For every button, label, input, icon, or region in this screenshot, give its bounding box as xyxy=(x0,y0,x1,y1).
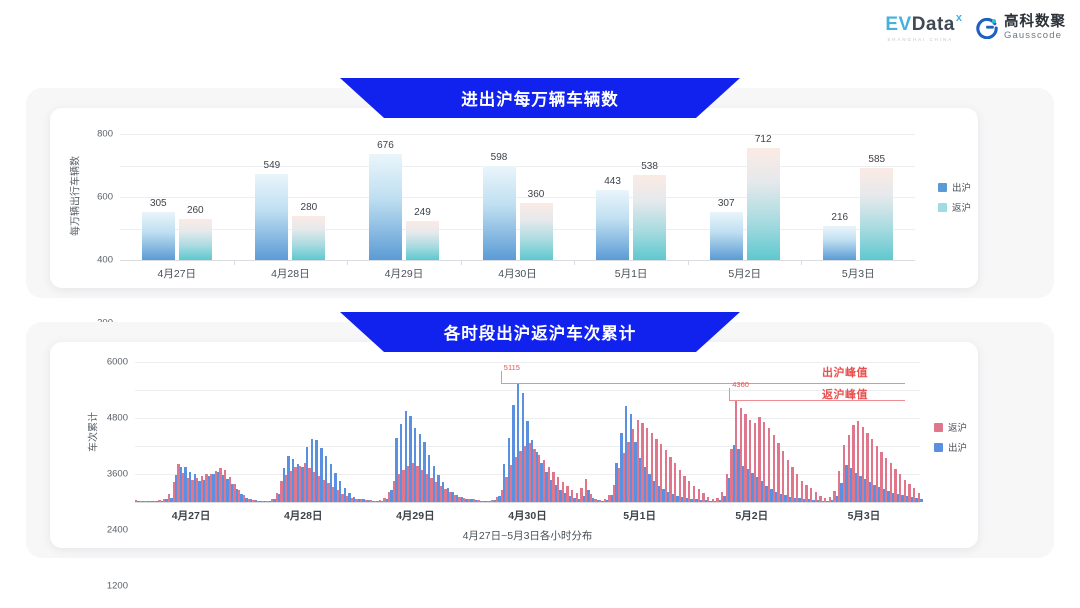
chart2-y-axis-label: 车次累计 xyxy=(85,412,100,452)
evdata-data-text: Data xyxy=(912,14,955,35)
chart2-peak-value: 5115 xyxy=(504,363,520,372)
chart2-x-axis-labels: 4月27日4月28日4月29日4月30日5月1日5月2日5月3日 xyxy=(135,508,920,523)
chart2-bar-return xyxy=(787,460,789,502)
chart1-bar-出沪: 307 xyxy=(710,212,743,260)
g-circle-icon xyxy=(976,17,998,39)
chart1-bar-返沪: 712 xyxy=(747,148,780,260)
chart2-x-tick-label: 5月3日 xyxy=(808,508,920,523)
chart1-bar-返沪: 249 xyxy=(406,221,439,260)
chart1-x-tick-mark xyxy=(574,260,575,265)
report-page: EVData x SHANGHAI CHINA 高科数聚 Gausscode 进… xyxy=(0,0,1080,608)
chart1-bar-value: 280 xyxy=(301,202,318,213)
chart2-x-tick-label: 4月27日 xyxy=(135,508,247,523)
chart2-x-tick-label: 4月29日 xyxy=(359,508,471,523)
chart2-legend-item[interactable]: 返沪 xyxy=(934,420,967,434)
chart1-y-tick: 600 xyxy=(97,192,113,203)
chart1-x-tick-mark xyxy=(347,260,348,265)
chart2-y-tick: 3600 xyxy=(107,469,128,480)
chart1-bar-group: 549280 xyxy=(234,134,348,260)
chart1-x-tick-label: 5月1日 xyxy=(574,266,688,281)
chart2-x-tick-label: 5月2日 xyxy=(696,508,808,523)
chart1-bar-返沪: 538 xyxy=(633,175,666,260)
chart1-bar-出沪: 676 xyxy=(369,154,402,260)
chart1-bar-group: 443538 xyxy=(574,134,688,260)
chart1-bar-出沪: 549 xyxy=(255,174,288,260)
chart1-bar-value: 538 xyxy=(641,161,658,172)
chart2-y-tick: 2400 xyxy=(107,525,128,536)
chart1-bar-value: 305 xyxy=(150,198,167,209)
chart1-bar-value: 443 xyxy=(604,176,621,187)
chart2-peak-tick-出沪峰值 xyxy=(501,371,502,383)
chart2-peak-label: 返沪峰值 xyxy=(822,386,868,402)
chart1-bar-value: 307 xyxy=(718,198,735,209)
chart1-x-tick-label: 5月2日 xyxy=(688,266,802,281)
chart2-legend-swatch xyxy=(934,443,943,452)
evdata-logo: EVData x SHANGHAI CHINA xyxy=(885,14,962,42)
chart1-bar-group: 307712 xyxy=(688,134,802,260)
chart1-legend-label: 出沪 xyxy=(952,180,971,194)
chart1-x-tick-label: 4月29日 xyxy=(347,266,461,281)
chart2-bar-outbound xyxy=(920,499,922,502)
chart1-bar-group: 676249 xyxy=(347,134,461,260)
evdata-ev-text: EV xyxy=(885,14,911,35)
chart1-bar-返沪: 360 xyxy=(520,203,553,260)
chart2-legend-label: 出沪 xyxy=(948,440,967,454)
chart2-legend-item[interactable]: 出沪 xyxy=(934,440,967,454)
section-2-banner-title: 各时段出沪返沪车次累计 xyxy=(340,312,740,352)
chart1-bar-value: 249 xyxy=(414,207,431,218)
chart1-bar-出沪: 216 xyxy=(823,226,856,260)
chart2-peak-line-返沪峰值 xyxy=(729,400,905,401)
chart1-legend-swatch xyxy=(938,203,947,212)
evdata-wordmark: EVData xyxy=(885,14,955,36)
chart2-peak-label: 出沪峰值 xyxy=(822,364,868,380)
chart2-y-tick: 6000 xyxy=(107,357,128,368)
chart2-legend: 返沪出沪 xyxy=(934,420,967,454)
chart1-bar-group: 598360 xyxy=(461,134,575,260)
chart1-bar-group: 305260 xyxy=(120,134,234,260)
chart1-bar-value: 598 xyxy=(491,152,508,163)
chart1-x-tick-mark xyxy=(461,260,462,265)
chart1-x-tick-mark xyxy=(234,260,235,265)
chart1-legend-item[interactable]: 返沪 xyxy=(938,200,971,214)
chart1-bar-出沪: 443 xyxy=(596,190,629,260)
chart2-legend-swatch xyxy=(934,423,943,432)
chart1-x-tick-label: 4月28日 xyxy=(234,266,348,281)
chart1-x-tick-label: 5月3日 xyxy=(801,266,915,281)
chart1-x-axis-labels: 4月27日4月28日4月29日4月30日5月1日5月2日5月3日 xyxy=(120,266,915,281)
chart1-bar-返沪: 280 xyxy=(292,216,325,260)
chart1-x-tick-mark xyxy=(688,260,689,265)
chart1-bar-value: 216 xyxy=(831,212,848,223)
chart1-bar-group: 216585 xyxy=(801,134,915,260)
chart2-x-tick-label: 4月30日 xyxy=(471,508,583,523)
chart2-gridline: 0 xyxy=(135,502,920,503)
chart1-legend-swatch xyxy=(938,183,947,192)
chart2-y-tick: 4800 xyxy=(107,413,128,424)
chart1-bar-出沪: 598 xyxy=(483,166,516,260)
chart2-peak-value: 4360 xyxy=(732,380,749,389)
chart2-x-tick-label: 5月1日 xyxy=(584,508,696,523)
chart1-bar-value: 585 xyxy=(868,154,885,165)
chart1-gridline: 0 xyxy=(120,260,915,261)
chart2-x-tick-label: 4月28日 xyxy=(247,508,359,523)
chart1-bar-返沪: 585 xyxy=(860,168,893,260)
chart1-legend-item[interactable]: 出沪 xyxy=(938,180,971,194)
chart1-bar-返沪: 260 xyxy=(179,219,212,260)
chart1-bar-value: 712 xyxy=(755,134,772,145)
chart1-legend-label: 返沪 xyxy=(952,200,971,214)
chart1-y-tick: 400 xyxy=(97,255,113,266)
evdata-superscript: x xyxy=(956,12,962,24)
chart1-bar-groups: 3052605492806762495983604435383077122165… xyxy=(120,134,915,260)
chart2-bar-return xyxy=(782,451,784,502)
chart1-bar-value: 676 xyxy=(377,140,394,151)
section-1-banner-title: 进出沪每万辆车辆数 xyxy=(340,78,740,118)
chart2-legend-label: 返沪 xyxy=(948,420,967,434)
gausscode-cn-name: 高科数聚 xyxy=(1004,15,1066,30)
chart1-y-tick: 800 xyxy=(97,129,113,140)
brand-logo-bar: EVData x SHANGHAI CHINA 高科数聚 Gausscode xyxy=(885,14,1066,42)
chart1-bar-出沪: 305 xyxy=(142,212,175,260)
chart2-peak-line-出沪峰值 xyxy=(501,383,905,384)
chart2-y-tick: 1200 xyxy=(107,581,128,592)
evdata-tagline: SHANGHAI CHINA xyxy=(887,37,953,42)
gausscode-en-name: Gausscode xyxy=(1004,31,1066,41)
chart1-x-tick-mark xyxy=(801,260,802,265)
chart1-x-tick-label: 4月30日 xyxy=(461,266,575,281)
chart2-peak-tick-返沪峰值 xyxy=(729,388,730,400)
chart1-bar-value: 549 xyxy=(264,160,281,171)
chart1-y-axis-label: 每万辆出行车辆数 xyxy=(67,156,82,236)
chart1-x-tick-label: 4月27日 xyxy=(120,266,234,281)
chart1-bar-value: 260 xyxy=(187,205,204,216)
chart1-bar-value: 360 xyxy=(528,189,545,200)
gausscode-logo: 高科数聚 Gausscode xyxy=(976,15,1066,40)
chart2-caption: 4月27日~5月3日各小时分布 xyxy=(135,528,920,543)
chart1-legend: 出沪返沪 xyxy=(938,180,971,214)
